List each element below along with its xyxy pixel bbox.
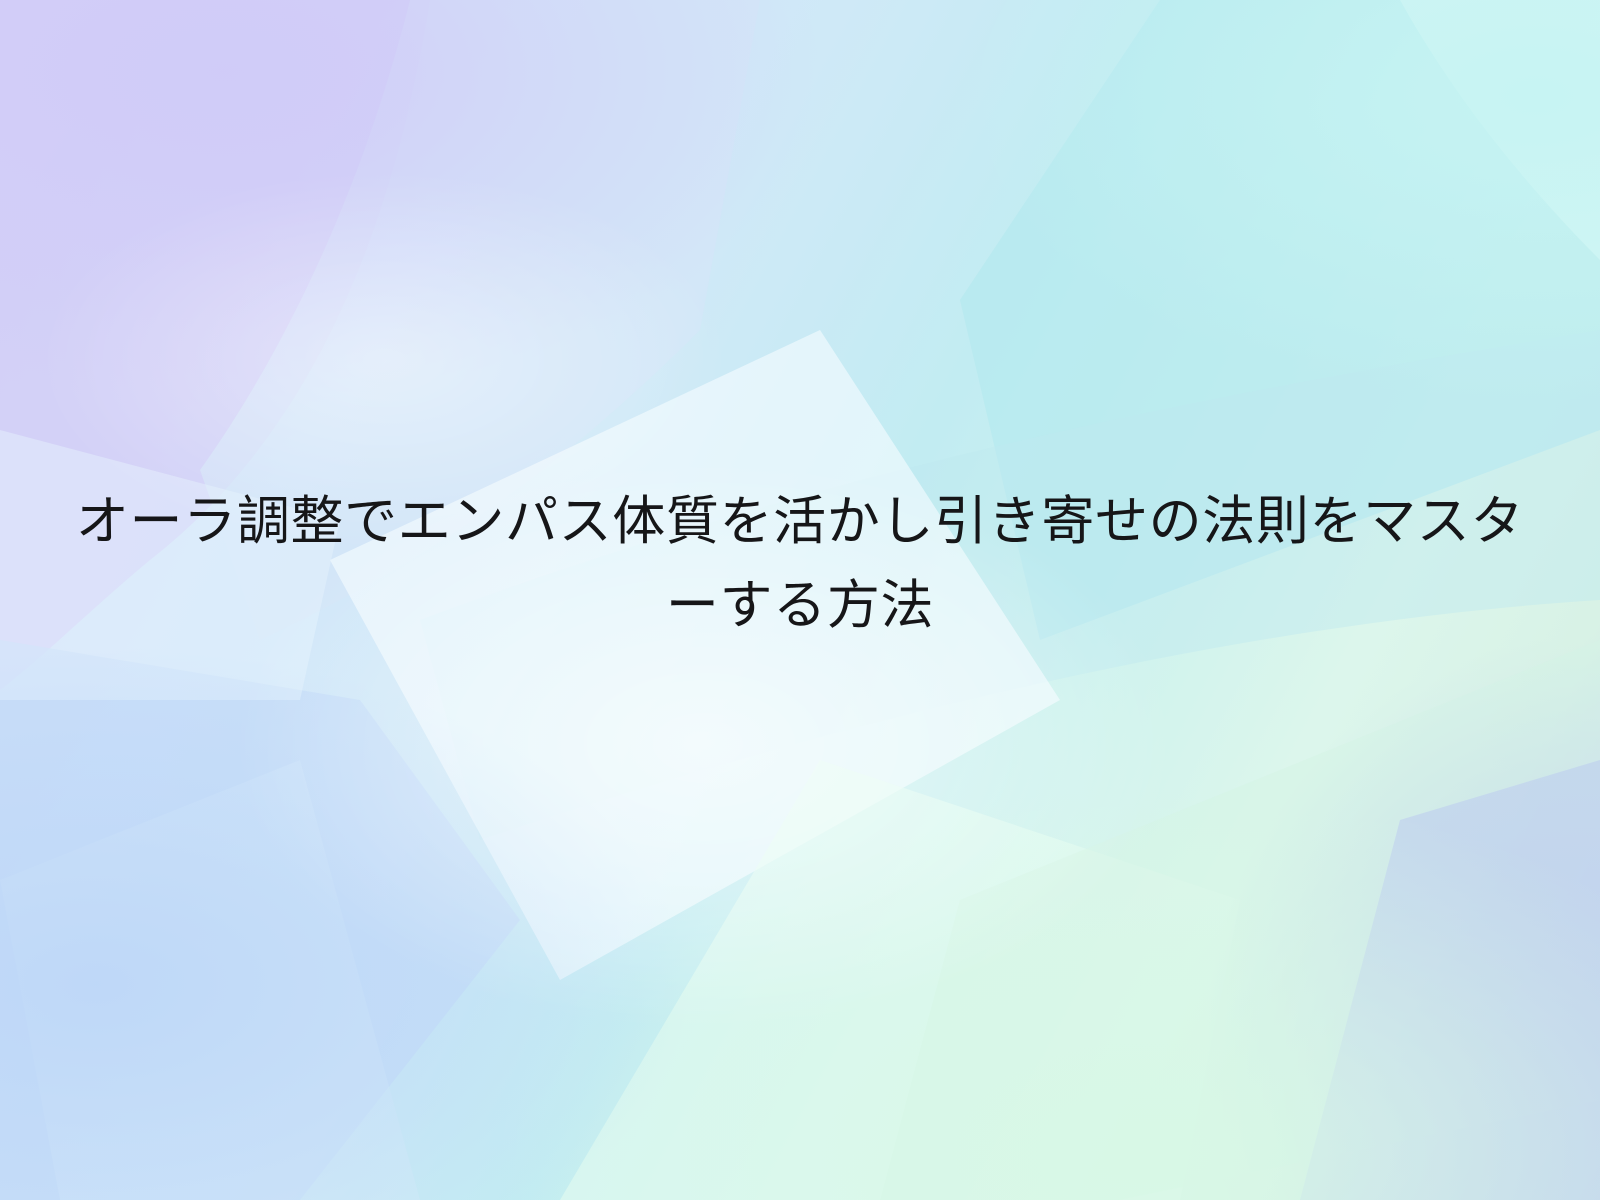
shape-mint-corner — [1400, 0, 1600, 260]
shape-left-blue-wedge — [0, 640, 520, 1200]
shape-center-highlight — [330, 330, 1060, 980]
shape-mint-green-field — [880, 640, 1600, 1200]
shape-mint-bottom — [560, 760, 1240, 1200]
slide-title: オーラ調整でエンパス体質を活かし引き寄せの法則をマスターする方法 — [50, 480, 1550, 647]
slide-canvas: オーラ調整でエンパス体質を活かし引き寄せの法則をマスターする方法 — [0, 0, 1600, 1200]
shape-pale-streak — [0, 760, 420, 1200]
title-container: オーラ調整でエンパス体質を活かし引き寄せの法則をマスターする方法 — [0, 480, 1600, 647]
shape-periwinkle-band — [1300, 760, 1600, 1200]
